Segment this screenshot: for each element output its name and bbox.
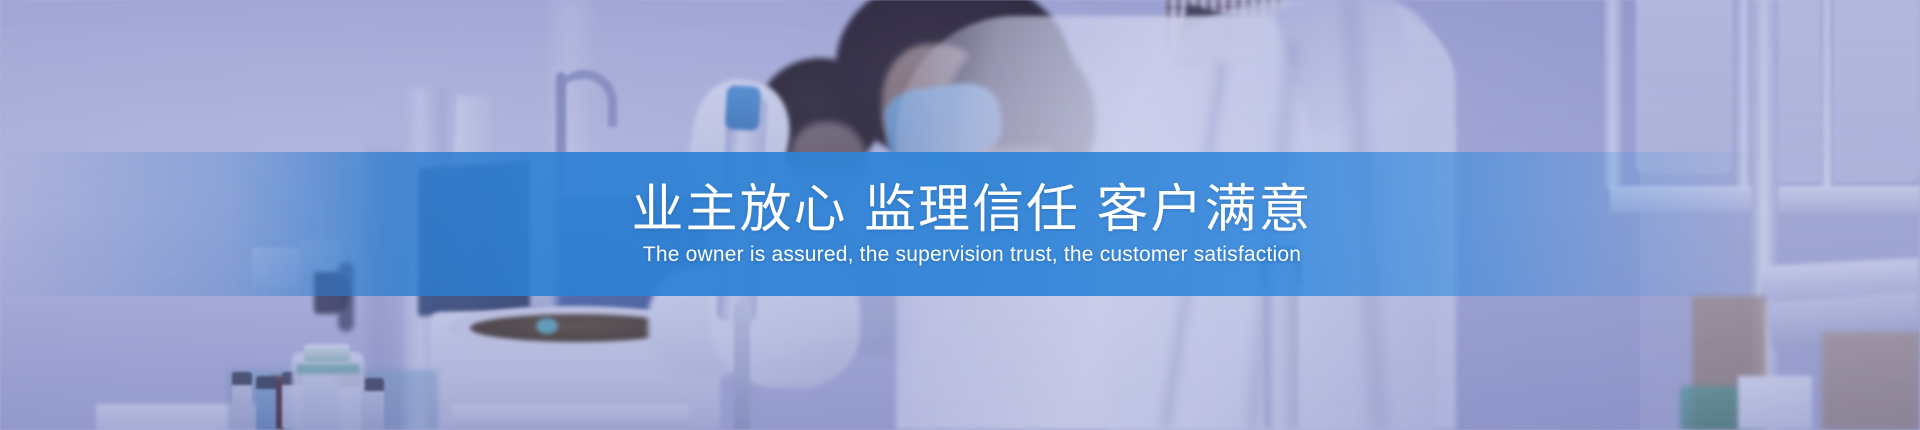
hero-banner: 业主放心 监理信任 客户满意 The owner is assured, the…	[0, 0, 1920, 430]
banner-text-block: 业主放心 监理信任 客户满意 The owner is assured, the…	[0, 152, 1920, 296]
banner-subheadline: The owner is assured, the supervision tr…	[619, 243, 1301, 267]
banner-headline: 业主放心 监理信任 客户满意	[608, 181, 1313, 239]
